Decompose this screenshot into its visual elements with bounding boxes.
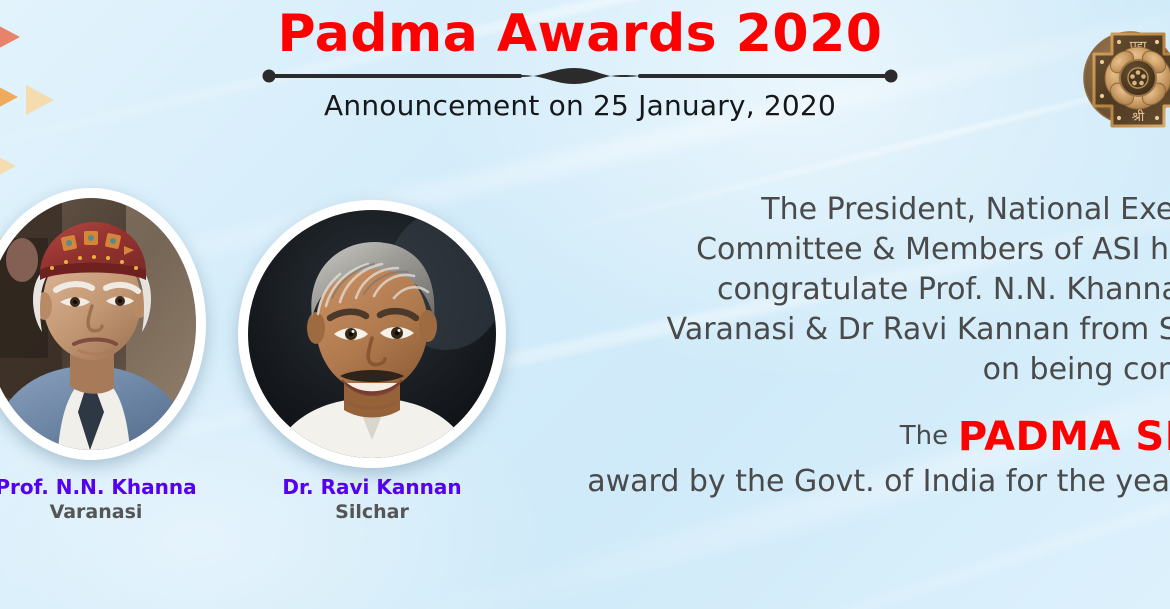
banner-header: Padma Awards 2020 Announcement on 25 Jan… xyxy=(262,8,898,122)
honoree-city: Silchar xyxy=(240,500,504,525)
decorative-triangle-icon xyxy=(0,150,16,182)
page-title: Padma Awards 2020 xyxy=(262,8,898,61)
award-suffix-line: award by the Govt. of India for the year… xyxy=(470,461,1170,503)
decorative-triangle-icon xyxy=(26,85,54,115)
announcement-subtitle: Announcement on 25 January, 2020 xyxy=(262,89,898,122)
message-line: The President, National Executi xyxy=(470,190,1170,230)
padma-awards-banner: Padma Awards 2020 Announcement on 25 Jan… xyxy=(0,0,1170,609)
congratulation-message: The President, National Executi Committe… xyxy=(470,190,1170,390)
svg-text:श्री: श्री xyxy=(1132,109,1145,125)
message-line: Committee & Members of ASI heart xyxy=(470,230,1170,270)
award-title-line: The PADMA SHR xyxy=(470,415,1170,461)
message-line: Varanasi & Dr Ravi Kannan from Silch xyxy=(470,310,1170,350)
award-prefix: The xyxy=(900,421,948,451)
decorative-triangle-icon xyxy=(0,80,18,114)
wave-divider-ornament xyxy=(262,65,898,87)
honoree-caption: Prof. N.N. Khanna Varanasi xyxy=(0,475,214,525)
padma-shri-medal-icon: पद्म श्री xyxy=(1078,14,1170,144)
honoree-caption: Dr. Ravi Kannan Silchar xyxy=(240,475,504,525)
award-statement: The PADMA SHR award by the Govt. of Indi… xyxy=(470,415,1170,503)
avatar xyxy=(0,188,206,460)
honoree-name: Prof. N.N. Khanna xyxy=(0,475,214,500)
message-line: congratulate Prof. N.N. Khanna fro xyxy=(470,270,1170,310)
message-line: on being conferr xyxy=(470,350,1170,390)
honoree-city: Varanasi xyxy=(0,500,214,525)
award-name: PADMA SHR xyxy=(958,414,1170,460)
avatar xyxy=(238,200,506,468)
decorative-triangle-icon xyxy=(0,20,20,54)
honoree-name: Dr. Ravi Kannan xyxy=(240,475,504,500)
